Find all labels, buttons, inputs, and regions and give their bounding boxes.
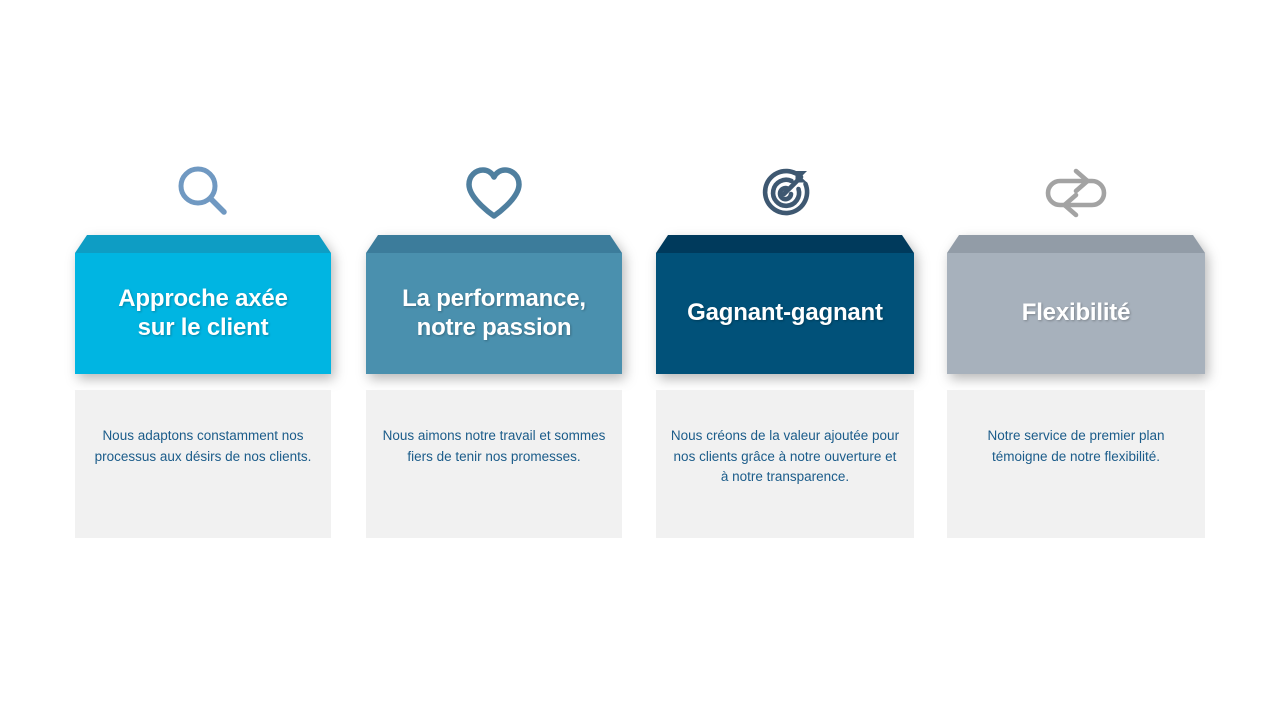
description-panel-la-performance-notre-passion: Nous aimons notre travail et sommes fier… <box>366 390 622 538</box>
banner-body: Gagnant-gagnant <box>656 253 914 374</box>
description-panel-gagnant-gagnant: Nous créons de la valeur ajoutée pour no… <box>656 390 914 538</box>
heart-icon <box>366 150 622 235</box>
card-title: Gagnant-gagnant <box>687 299 883 328</box>
card-flexibilite[interactable]: Flexibilité <box>947 150 1205 374</box>
description-panel-approche-axee-sur-le-client: Nous adaptons constamment nos processus … <box>75 390 331 538</box>
description-text: Nous créons de la valeur ajoutée pour no… <box>670 426 900 488</box>
description-text: Nous adaptons constamment nos processus … <box>89 426 317 467</box>
banner-body: Approche axée sur le client <box>75 253 331 374</box>
description-panel-flexibilite: Notre service de premier plan témoigne d… <box>947 390 1205 538</box>
card-title: Flexibilité <box>1022 299 1131 328</box>
banner-lid <box>947 235 1205 253</box>
banner-lid <box>75 235 331 253</box>
banner-body: Flexibilité <box>947 253 1205 374</box>
target-arrow-icon <box>656 150 914 235</box>
card-gagnant-gagnant[interactable]: Gagnant-gagnant <box>656 150 914 374</box>
card-title: La performance, notre passion <box>402 285 586 343</box>
card-la-performance-notre-passion[interactable]: La performance, notre passion <box>366 150 622 374</box>
banner-lid <box>366 235 622 253</box>
infographic-slide: Approche axée sur le client Nous adapton… <box>0 0 1280 720</box>
magnifier-icon <box>75 150 331 235</box>
banner-body: La performance, notre passion <box>366 253 622 374</box>
banner-la-performance-notre-passion: La performance, notre passion <box>366 235 622 374</box>
banner-flexibilite: Flexibilité <box>947 235 1205 374</box>
banner-gagnant-gagnant: Gagnant-gagnant <box>656 235 914 374</box>
banner-approche-axee-sur-le-client: Approche axée sur le client <box>75 235 331 374</box>
banner-lid <box>656 235 914 253</box>
description-text: Nous aimons notre travail et sommes fier… <box>380 426 608 467</box>
description-text: Notre service de premier plan témoigne d… <box>961 426 1191 467</box>
card-title: Approche axée sur le client <box>118 285 287 343</box>
card-approche-axee-sur-le-client[interactable]: Approche axée sur le client <box>75 150 331 374</box>
repeat-loop-icon <box>947 150 1205 235</box>
